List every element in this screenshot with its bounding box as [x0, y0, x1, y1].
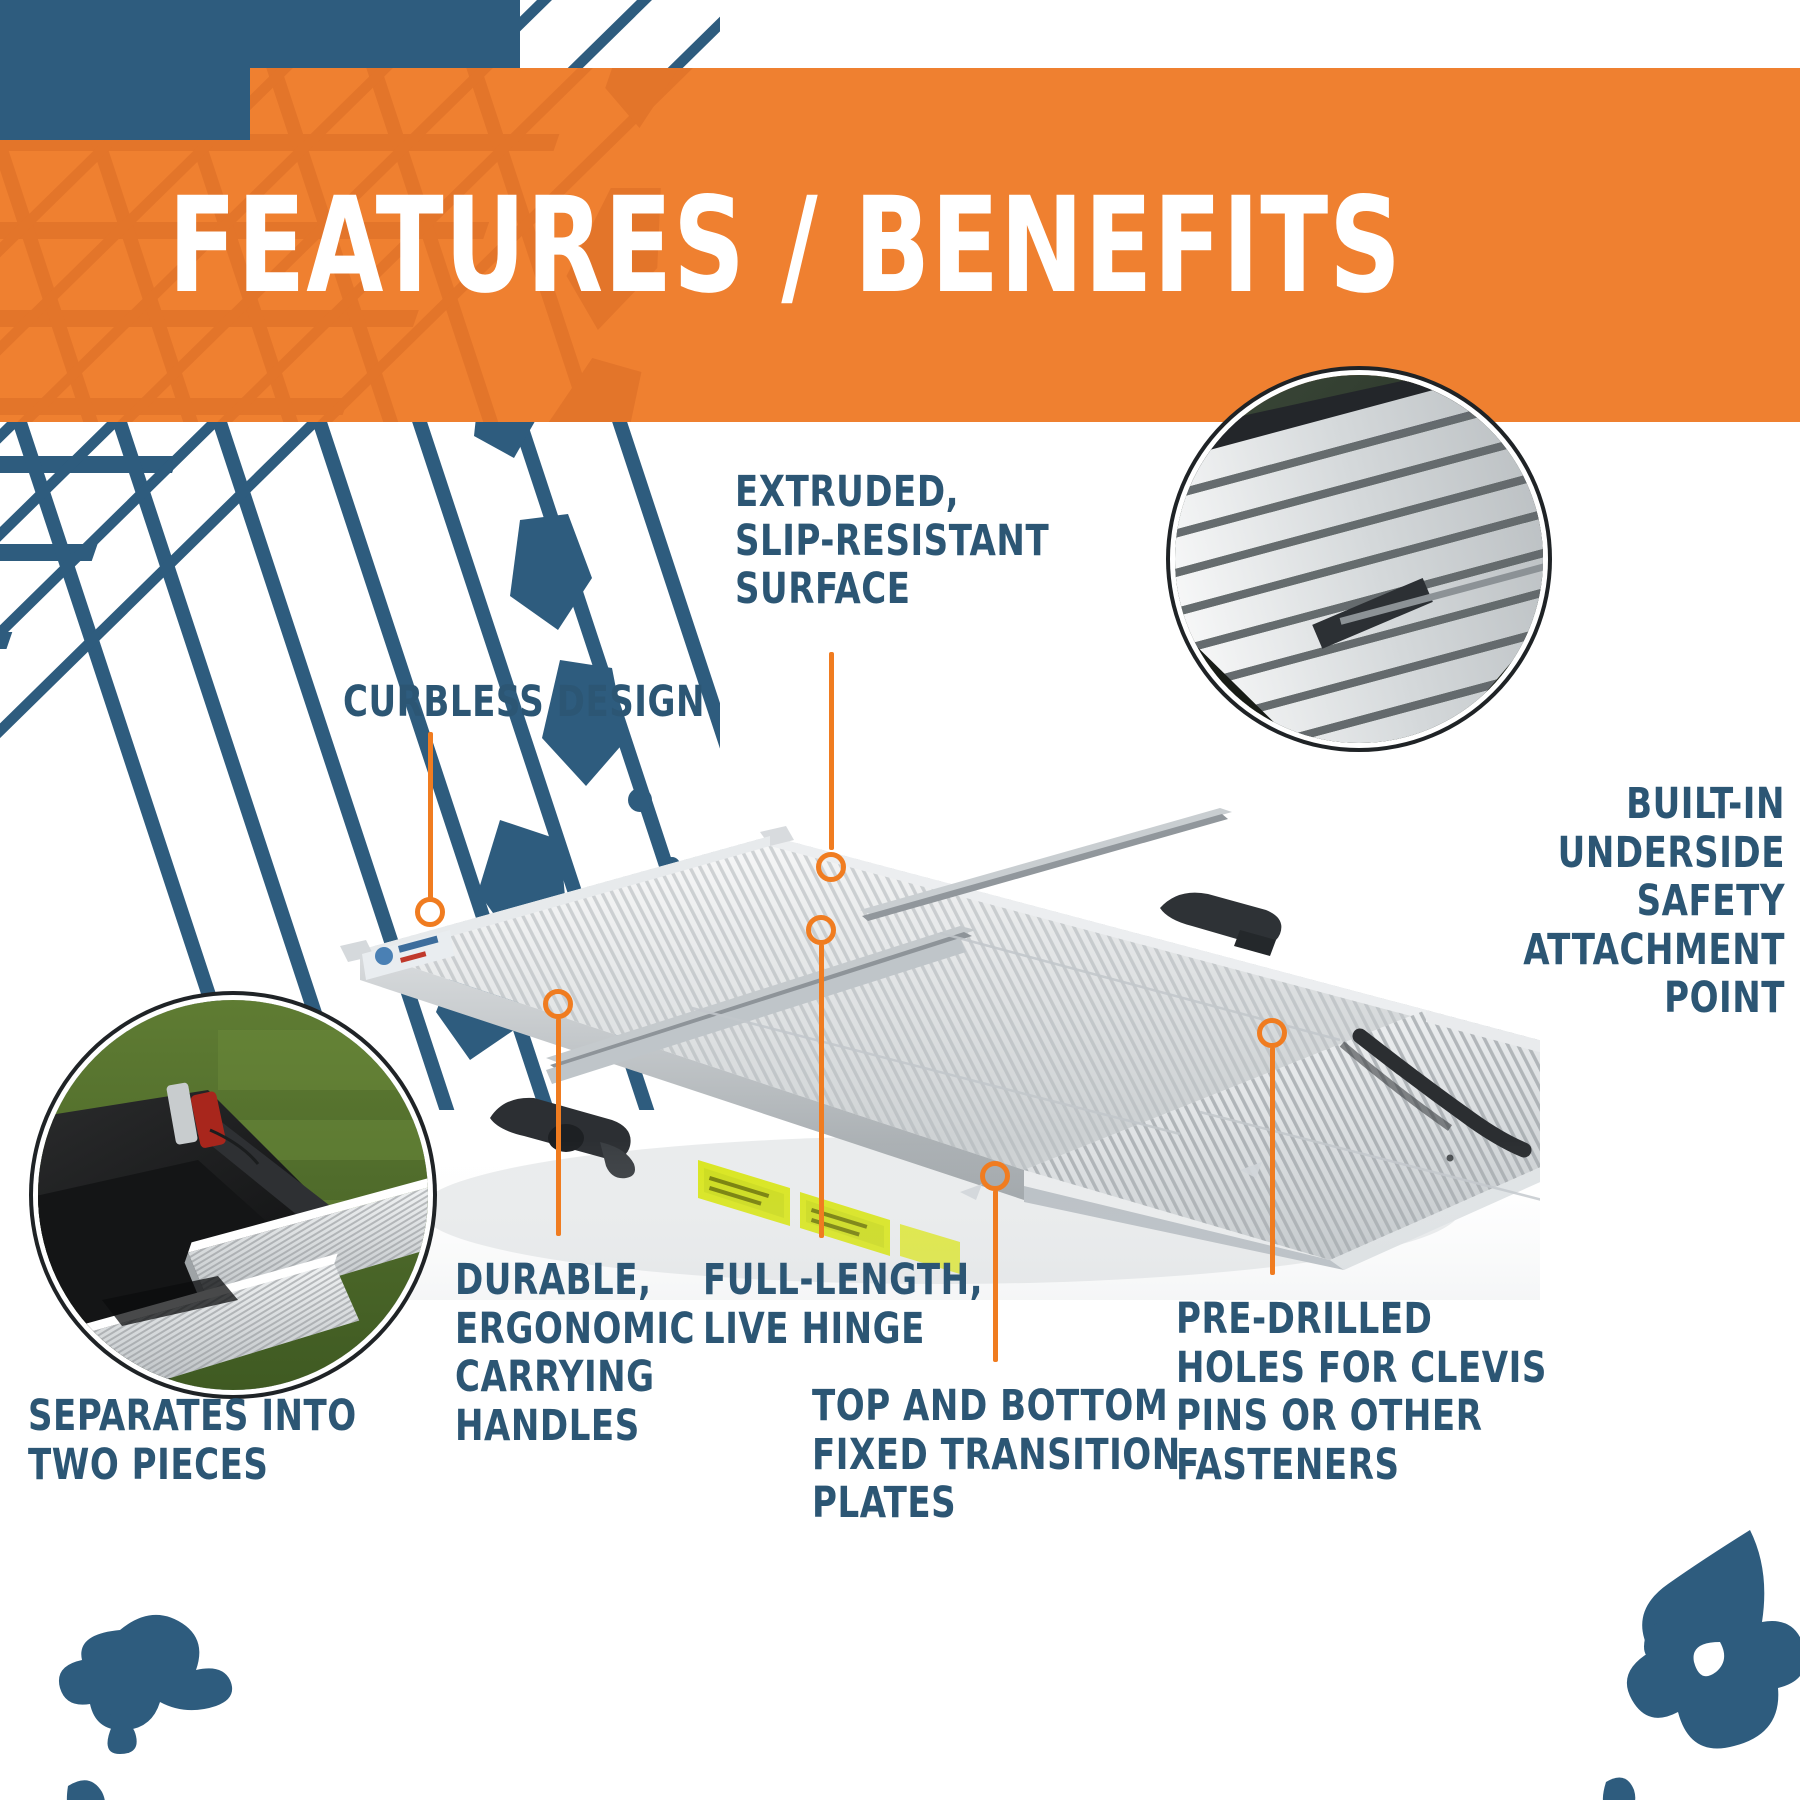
tire-tread-fragment-bottom-left [0, 1600, 550, 1800]
leader-line-carrying-handles [556, 1018, 561, 1236]
leader-line-pre-drilled-holes [1270, 1047, 1275, 1275]
leader-endpoint-carrying-handles [543, 989, 573, 1019]
feature-label-durable-ergonomic-carrying-handles: DURABLE, ERGONOMIC CARRYING HANDLES [455, 1256, 745, 1450]
page-title: FEATURES / BENEFITS [126, 180, 1445, 312]
feature-label-extruded-slip-resistant-surface: EXTRUDED, SLIP-RESISTANT SURFACE [735, 468, 1105, 614]
leader-line-live-hinge [819, 944, 824, 1238]
infographic-canvas: FEATURES / BENEFITS [0, 0, 1800, 1800]
leader-endpoint-transition-plates [980, 1161, 1010, 1191]
leader-line-extruded-surface [829, 652, 834, 850]
header-blue-left-cap [0, 68, 250, 140]
leader-line-transition-plates [993, 1190, 998, 1362]
tire-tread-fragment-bottom-right [1420, 1530, 1800, 1800]
feature-label-full-length-live-hinge: FULL-LENGTH, LIVE HINGE [703, 1256, 993, 1353]
inset-two-pieces-on-truck [38, 1000, 428, 1390]
feature-label-separates-into-two-pieces: SEPARATES INTO TWO PIECES [28, 1392, 450, 1489]
leader-endpoint-curbless-design [415, 897, 445, 927]
leader-endpoint-live-hinge [806, 915, 836, 945]
feature-label-pre-drilled-holes-for-clevis-pins: PRE-DRILLED HOLES FOR CLEVIS PINS OR OTH… [1176, 1295, 1616, 1489]
leader-endpoint-pre-drilled-holes [1257, 1018, 1287, 1048]
inset-surface-closeup [1175, 375, 1543, 743]
feature-label-top-and-bottom-fixed-transition-plates: TOP AND BOTTOM FIXED TRANSITION PLATES [812, 1382, 1182, 1528]
feature-label-curbless-design: CURBLESS DESIGN [343, 678, 748, 727]
feature-label-built-in-underside-safety-attachment-point: BUILT-IN UNDERSIDE SAFETY ATTACHMENT POI… [1319, 780, 1785, 1023]
leader-line-curbless-design [428, 732, 433, 900]
header-blue-block [0, 0, 520, 72]
leader-endpoint-extruded-surface [816, 852, 846, 882]
